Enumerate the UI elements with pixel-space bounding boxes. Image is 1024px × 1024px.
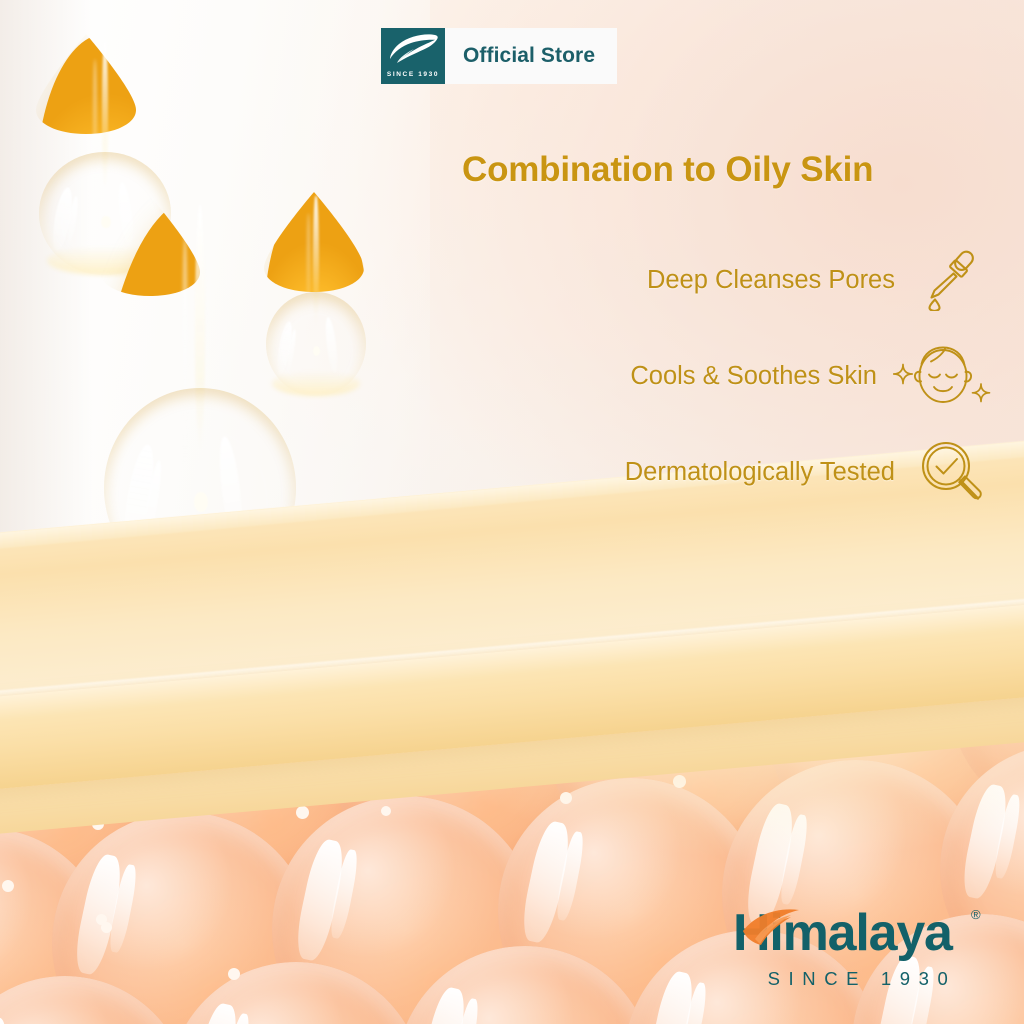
himalaya-wordmark: Himalaya ® <box>733 905 985 961</box>
badge-since-text: SINCE 1930 <box>381 71 445 78</box>
bubble-dot <box>381 806 391 816</box>
magnifier-check-icon <box>909 441 995 503</box>
dropper-pipette-icon <box>909 249 995 311</box>
official-store-badge[interactable]: SINCE 1930 Official Store <box>381 28 617 84</box>
feature-label: Dermatologically Tested <box>625 458 895 487</box>
himalaya-leaf-icon: SINCE 1930 <box>381 28 445 84</box>
feature-item-dermatologically-tested: Dermatologically Tested <box>495 424 995 520</box>
bubble-dot <box>101 922 112 933</box>
feature-list: Deep Cleanses Pores Cools & Soothes Skin <box>495 232 995 520</box>
leaf-glyph <box>387 32 439 66</box>
feature-item-deep-cleanses-pores: Deep Cleanses Pores <box>495 232 995 328</box>
bubble-dot <box>228 968 240 980</box>
registered-mark: ® <box>971 907 981 922</box>
brand-tagline: SINCE 1930 <box>733 968 985 990</box>
official-store-label: Official Store <box>445 28 617 84</box>
bubble-dot <box>673 775 686 788</box>
promo-banner: SINCE 1930 Official Store Combination to… <box>0 0 1024 1024</box>
page-title: Combination to Oily Skin <box>462 150 982 190</box>
bubble-dot <box>2 880 14 892</box>
smiling-face-sparkles-icon <box>891 342 995 410</box>
bubble-dot <box>560 792 572 804</box>
feature-item-cools-soothes-skin: Cools & Soothes Skin <box>495 328 995 424</box>
oil-droplet-small-right <box>264 192 368 400</box>
feature-label: Cools & Soothes Skin <box>630 362 877 391</box>
feature-label: Deep Cleanses Pores <box>647 266 895 295</box>
bubble-dot <box>296 806 309 819</box>
himalaya-brand-logo: Himalaya ® SINCE 1930 <box>733 905 985 990</box>
